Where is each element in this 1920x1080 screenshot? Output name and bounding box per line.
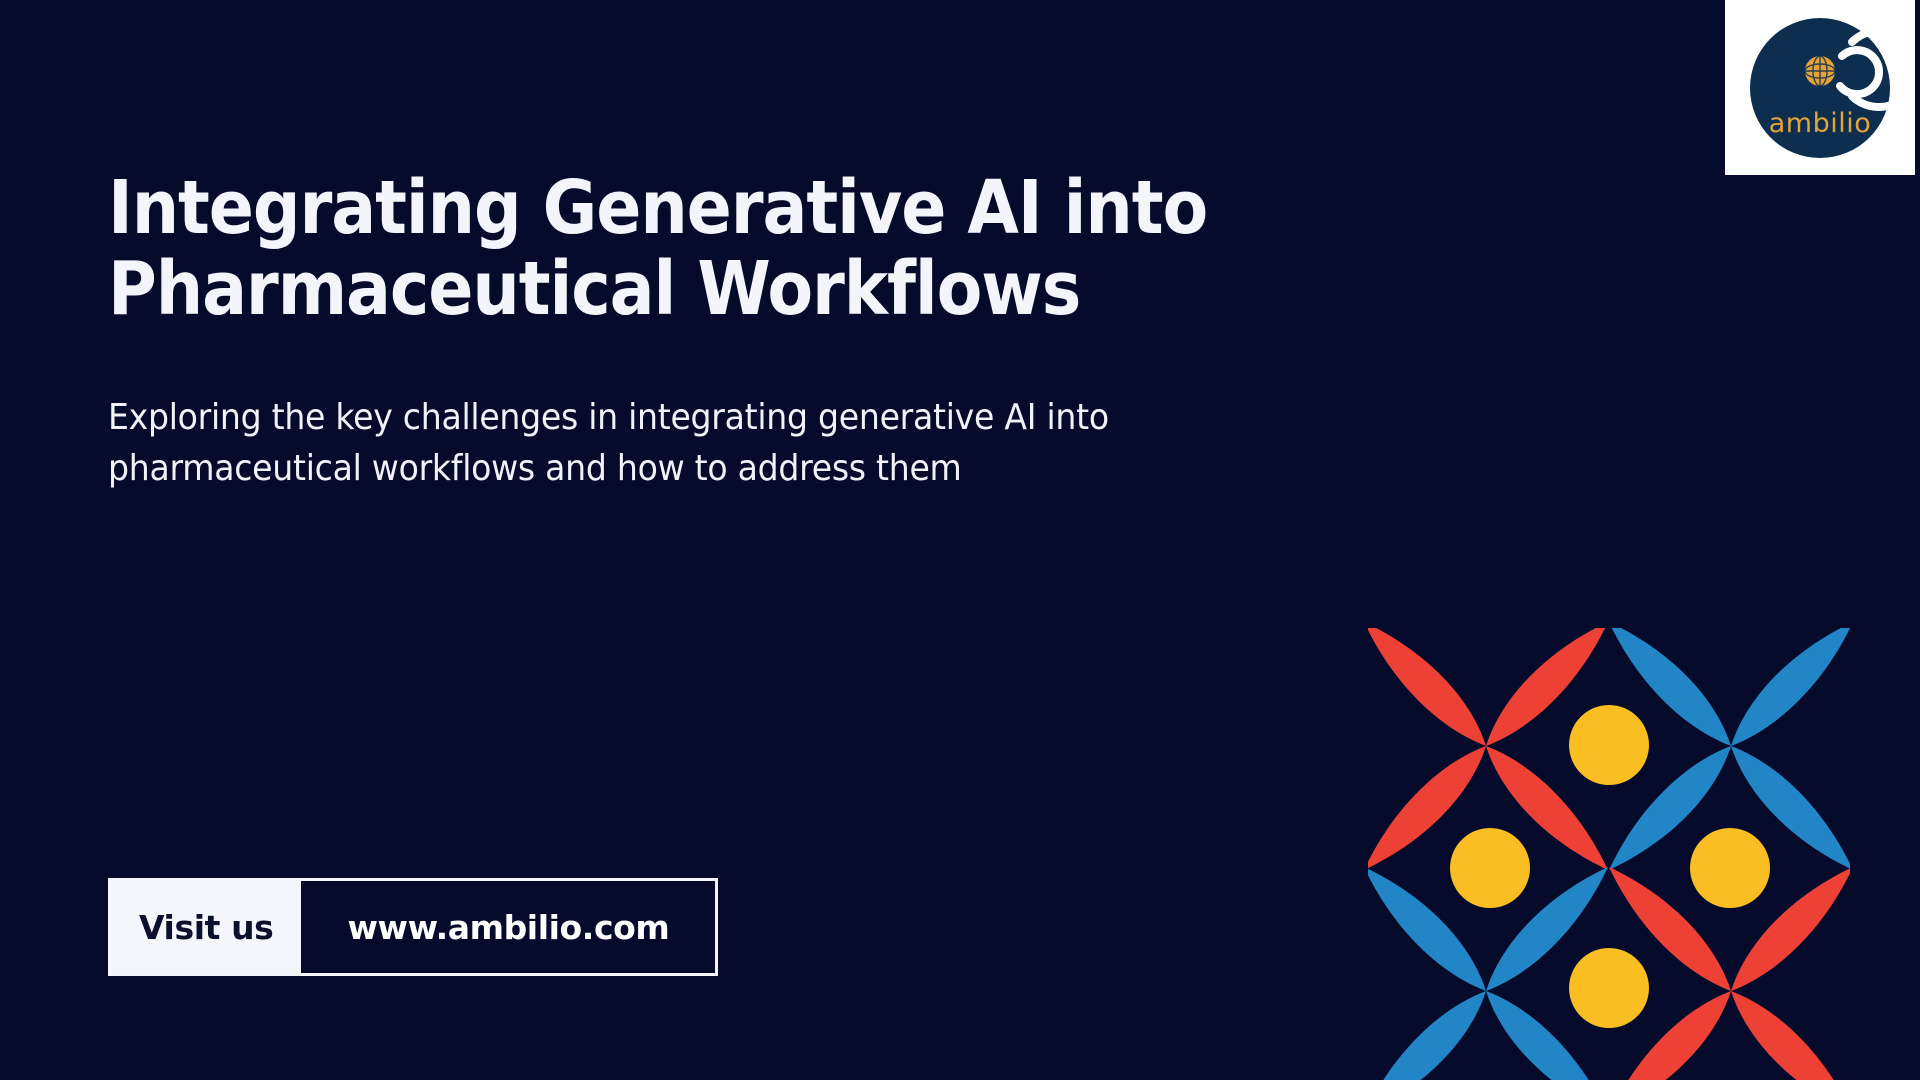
accent-dot-left bbox=[1450, 828, 1530, 908]
accent-dot-right bbox=[1690, 828, 1770, 908]
page-subtitle-line-2: pharmaceutical workflows and how to addr… bbox=[108, 443, 1267, 494]
visit-us-cta[interactable]: Visit us www.ambilio.com bbox=[108, 878, 718, 976]
globe-icon bbox=[1805, 56, 1835, 86]
flower-top-left bbox=[1368, 628, 1608, 870]
ambilio-logo-badge[interactable]: ambilio bbox=[1725, 0, 1915, 175]
visit-us-label: Visit us bbox=[111, 881, 301, 973]
social-card: ambilio Integrating Generative AI into P… bbox=[0, 0, 1920, 1080]
page-title-line-2: Pharmaceutical Workflows bbox=[108, 249, 1269, 330]
accent-dot-bottom bbox=[1569, 948, 1649, 1028]
flower-bottom-left bbox=[1368, 867, 1608, 1080]
accent-dot-top bbox=[1569, 705, 1649, 785]
website-url-link[interactable]: www.ambilio.com bbox=[301, 881, 715, 973]
page-title: Integrating Generative AI into Pharmaceu… bbox=[108, 168, 1269, 329]
flower-top-right bbox=[1609, 628, 1850, 870]
floral-pattern-decoration bbox=[1368, 628, 1850, 1080]
page-subtitle: Exploring the key challenges in integrat… bbox=[108, 392, 1267, 494]
page-title-line-1: Integrating Generative AI into bbox=[108, 168, 1269, 249]
page-subtitle-line-1: Exploring the key challenges in integrat… bbox=[108, 392, 1267, 443]
logo-wordmark: ambilio bbox=[1769, 108, 1872, 139]
flower-bottom-right bbox=[1609, 867, 1850, 1080]
